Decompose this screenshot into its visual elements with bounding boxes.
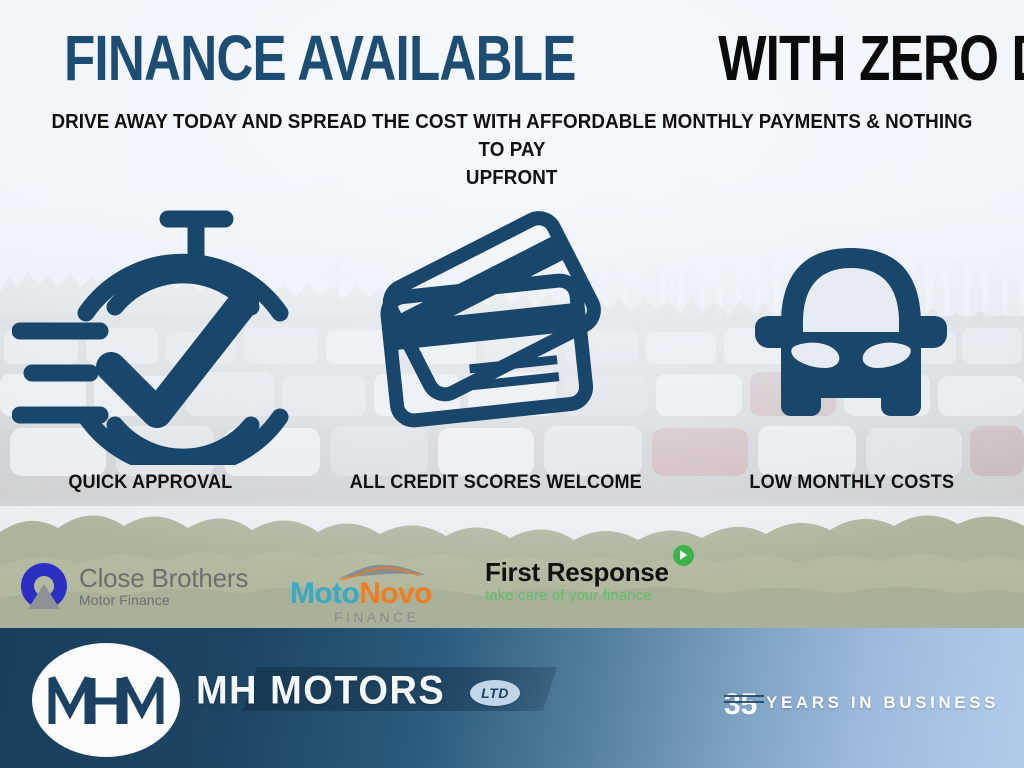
lender-first-response: First Response take care of your finance: [485, 558, 694, 604]
footer-brand-name: MH MOTORS: [196, 672, 445, 710]
lender-logo-row: Close Brothers Motor Finance MotoNovo FI…: [0, 556, 1024, 628]
feature-low-monthly-costs: LOW MONTHLY COSTS: [679, 200, 1024, 494]
feature-label-all-credit-scores: ALL CREDIT SCORES WELCOME: [342, 472, 650, 494]
first-response-subtitle: take care of your finance: [485, 587, 652, 604]
headline: FINANCE AVAILABLEWITH ZERO DEPOSIT: [0, 26, 1024, 90]
subheadline-line-1: DRIVE AWAY TODAY AND SPREAD THE COST WIT…: [48, 108, 977, 164]
ltd-badge: LTD: [470, 680, 520, 706]
lender-motonovo: MotoNovo FINANCE: [290, 562, 432, 625]
headline-part-2: WITH ZERO DEPOSIT: [718, 26, 1024, 90]
motonovo-name-part1: Moto: [290, 577, 359, 610]
feature-icon-slot: [364, 200, 628, 468]
headline-part-1: FINANCE AVAILABLE: [64, 26, 576, 90]
first-response-name: First Response: [485, 558, 669, 586]
mhm-monogram-icon: [46, 672, 166, 728]
feature-label-low-monthly-costs: LOW MONTHLY COSTS: [744, 472, 960, 494]
first-response-play-icon: [673, 545, 694, 566]
feature-icon-slot: [737, 200, 965, 468]
lender-close-brothers: Close Brothers Motor Finance: [18, 560, 248, 612]
feature-quick-approval: QUICK APPROVAL: [0, 200, 323, 494]
close-brothers-subtitle: Motor Finance: [79, 592, 248, 608]
close-brothers-logo-icon: [18, 560, 70, 612]
subheadline-line-2: UPFRONT: [466, 164, 558, 192]
finance-promo-banner: FINANCE AVAILABLEWITH ZERO DEPOSIT DRIVE…: [0, 0, 1024, 768]
thirty-five-number-icon: 35: [724, 686, 764, 720]
svg-text:35: 35: [724, 688, 757, 720]
feature-icon-slot: [12, 200, 290, 468]
subheadline: DRIVE AWAY TODAY AND SPREAD THE COST WIT…: [18, 108, 1006, 192]
close-brothers-name: Close Brothers: [79, 565, 248, 591]
stopwatch-check-icon: [12, 203, 290, 465]
motonovo-name-part2: Novo: [359, 577, 432, 610]
motonovo-subtitle: FINANCE: [334, 609, 419, 625]
feature-list: QUICK APPROVAL: [0, 200, 1024, 530]
years-in-business-label: YEARS IN BUSINESS: [766, 693, 999, 713]
credit-cards-icon: [364, 203, 628, 465]
motonovo-name: MotoNovo: [290, 578, 432, 610]
years-in-business: 35 YEARS IN BUSINESS: [724, 686, 999, 720]
mhm-oval-logo-icon: [32, 643, 180, 757]
feature-all-credit-scores: ALL CREDIT SCORES WELCOME: [323, 200, 668, 494]
car-front-icon: [737, 228, 965, 440]
feature-label-quick-approval: QUICK APPROVAL: [64, 472, 237, 494]
